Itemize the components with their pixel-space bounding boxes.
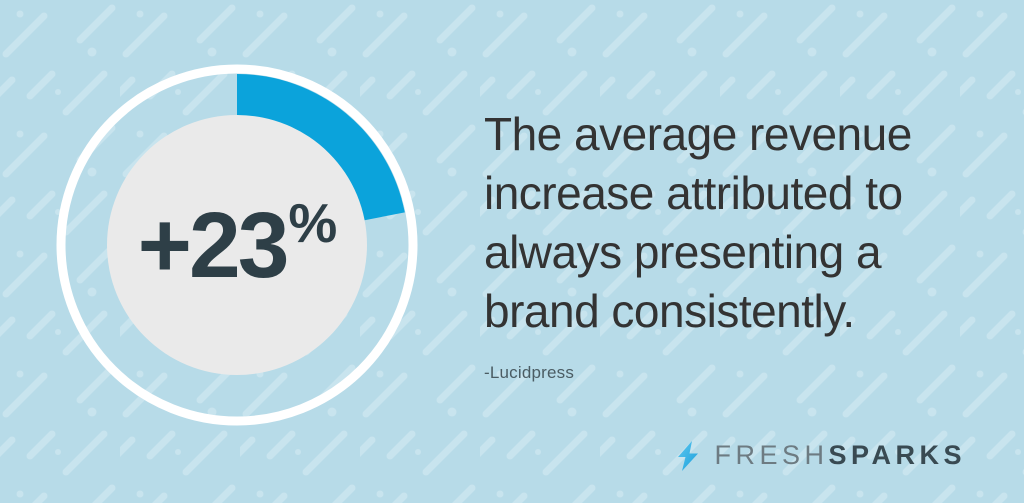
- brand-name: FRESHSPARKS: [714, 440, 966, 471]
- brand-name-sparks: SPARKS: [828, 440, 966, 470]
- lightning-bolt-icon: [675, 441, 701, 471]
- infographic-canvas: +23% The average revenue increase attrib…: [0, 0, 1024, 503]
- quote-text: The average revenue increase attributed …: [484, 105, 984, 341]
- brand-name-fresh: FRESH: [714, 440, 828, 470]
- quote-block: The average revenue increase attributed …: [484, 105, 984, 383]
- gauge-value-percent-sign: %: [288, 196, 336, 251]
- gauge-value-label: +23%: [52, 60, 422, 430]
- brand-logo: FRESHSPARKS: [675, 440, 966, 471]
- donut-gauge: +23%: [52, 60, 422, 430]
- quote-attribution: -Lucidpress: [484, 363, 984, 383]
- gauge-value-number: +23: [138, 199, 287, 292]
